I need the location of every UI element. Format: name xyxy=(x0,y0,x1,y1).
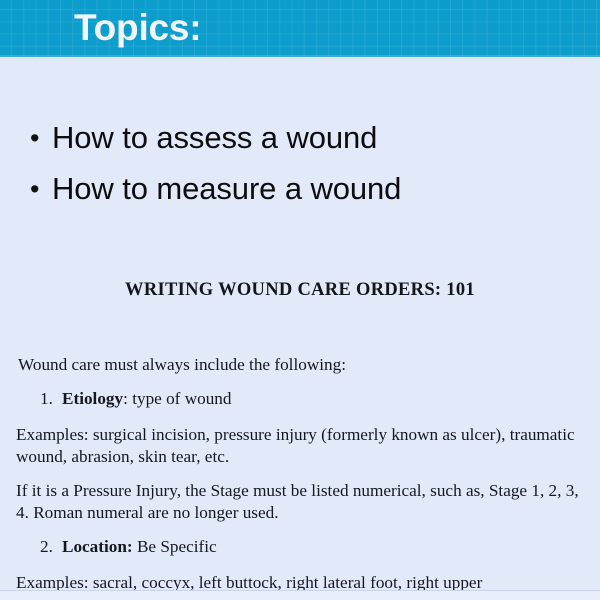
document-intro-line: Wound care must always include the follo… xyxy=(18,354,588,376)
numbered-item-2-number: 2. xyxy=(40,536,62,558)
page-bottom-edge xyxy=(0,590,600,600)
pressure-injury-note-paragraph: If it is a Pressure Injury, the Stage mu… xyxy=(16,480,592,524)
slide-header-band: Topics: xyxy=(0,0,600,57)
topics-bullet-list: • How to assess a wound • How to measure… xyxy=(0,118,600,220)
embedded-document: WRITING WOUND CARE ORDERS: 101 Wound car… xyxy=(0,268,600,600)
bullet-icon: • xyxy=(30,118,52,158)
numbered-item-2-rest: Be Specific xyxy=(133,537,217,556)
numbered-item-2: 2.Location: Be Specific xyxy=(40,536,580,558)
page-title: Topics: xyxy=(74,4,201,52)
numbered-item-1-term: Etiology xyxy=(62,389,123,408)
numbered-item-1-number: 1. xyxy=(40,388,62,410)
numbered-item-2-term: Location: xyxy=(62,537,133,556)
numbered-item-1-rest: type of wound xyxy=(128,389,232,408)
list-item: • How to assess a wound xyxy=(0,118,600,169)
document-heading: WRITING WOUND CARE ORDERS: 101 xyxy=(0,280,600,301)
list-item-label: How to assess a wound xyxy=(52,118,377,158)
list-item: • How to measure a wound xyxy=(0,169,600,220)
slide-canvas: Topics: • How to assess a wound • How to… xyxy=(0,0,600,600)
examples-etiology-paragraph: Examples: surgical incision, pressure in… xyxy=(16,424,588,468)
list-item-label: How to measure a wound xyxy=(52,169,401,209)
bullet-icon: • xyxy=(30,169,52,209)
numbered-item-1: 1.Etiology: type of wound xyxy=(40,388,580,410)
